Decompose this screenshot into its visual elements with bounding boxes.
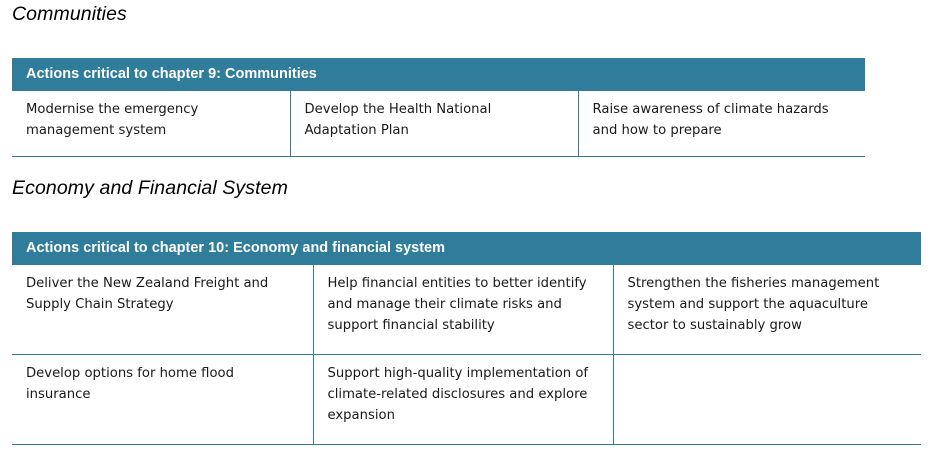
action-text: Develop options for home flood insurance — [26, 363, 299, 405]
action-text: Strengthen the fisheries management syst… — [628, 273, 908, 336]
table-row: Develop options for home flood insurance… — [12, 355, 921, 445]
actions-table-economy: Actions critical to chapter 10: Economy … — [12, 232, 921, 445]
table-title-economy: Actions critical to chapter 10: Economy … — [12, 232, 921, 265]
table-cell-action: Modernise the emergency management syste… — [12, 91, 290, 157]
table-body: Deliver the New Zealand Freight and Supp… — [12, 265, 921, 445]
table-cell-action: Raise awareness of climate hazards and h… — [578, 91, 865, 157]
action-text: Raise awareness of climate hazards and h… — [593, 99, 852, 141]
table-cell-action: Strengthen the fisheries management syst… — [613, 265, 921, 355]
table-row: Modernise the emergency management syste… — [12, 91, 865, 157]
table-head: Actions critical to chapter 9: Communiti… — [12, 58, 865, 91]
table-cell-action: Develop the Health National Adaptation P… — [290, 91, 578, 157]
table-cell-action: Support high-quality implementation of c… — [313, 355, 613, 445]
table-cell-action-empty — [613, 355, 921, 445]
table-body: Modernise the emergency management syste… — [12, 91, 865, 157]
table-cell-action: Develop options for home flood insurance — [12, 355, 313, 445]
table-header-row: Actions critical to chapter 9: Communiti… — [12, 58, 865, 91]
table-cell-action: Help financial entities to better identi… — [313, 265, 613, 355]
table-row: Deliver the New Zealand Freight and Supp… — [12, 265, 921, 355]
action-text: Modernise the emergency management syste… — [26, 99, 276, 141]
table-title-communities: Actions critical to chapter 9: Communiti… — [12, 58, 865, 91]
table-cell-action: Deliver the New Zealand Freight and Supp… — [12, 265, 313, 355]
action-text: Help financial entities to better identi… — [328, 273, 599, 336]
action-text: Develop the Health National Adaptation P… — [305, 99, 564, 141]
section-heading-communities: Communities — [12, 2, 127, 26]
action-text: Deliver the New Zealand Freight and Supp… — [26, 273, 299, 315]
table-header-row: Actions critical to chapter 10: Economy … — [12, 232, 921, 265]
document-page: Communities Actions critical to chapter … — [0, 0, 936, 453]
actions-table-communities: Actions critical to chapter 9: Communiti… — [12, 58, 865, 157]
section-heading-economy: Economy and Financial System — [12, 176, 288, 200]
action-text: Support high-quality implementation of c… — [328, 363, 599, 426]
table-head: Actions critical to chapter 10: Economy … — [12, 232, 921, 265]
